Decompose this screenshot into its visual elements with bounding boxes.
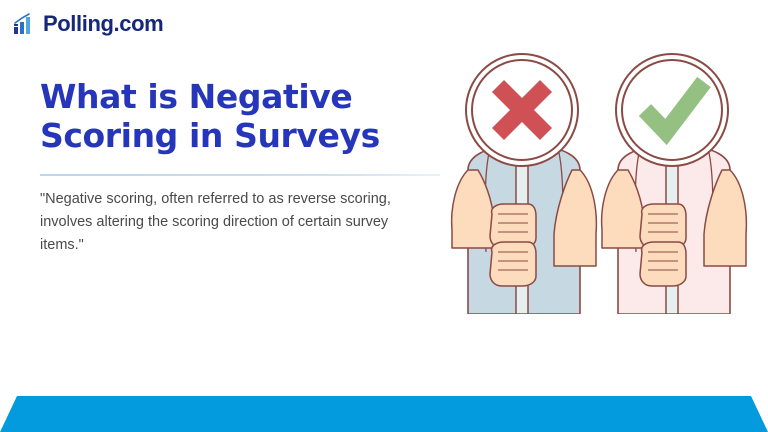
definition-paragraph: "Negative scoring, often referred to as … bbox=[40, 188, 415, 257]
brand-logo[interactable]: Polling.com bbox=[12, 12, 163, 36]
slide-canvas: Polling.com What is Negative Scoring in … bbox=[0, 0, 768, 432]
page-title: What is Negative Scoring in Surveys bbox=[40, 78, 440, 156]
bar-chart-icon bbox=[12, 12, 36, 36]
title-divider bbox=[40, 174, 440, 176]
right-figure bbox=[602, 54, 747, 314]
signs-illustration bbox=[432, 52, 762, 318]
left-figure bbox=[452, 54, 597, 314]
brand-name: Polling.com bbox=[43, 13, 163, 35]
text-column: What is Negative Scoring in Surveys "Neg… bbox=[40, 78, 440, 257]
footer-bar bbox=[0, 396, 768, 432]
